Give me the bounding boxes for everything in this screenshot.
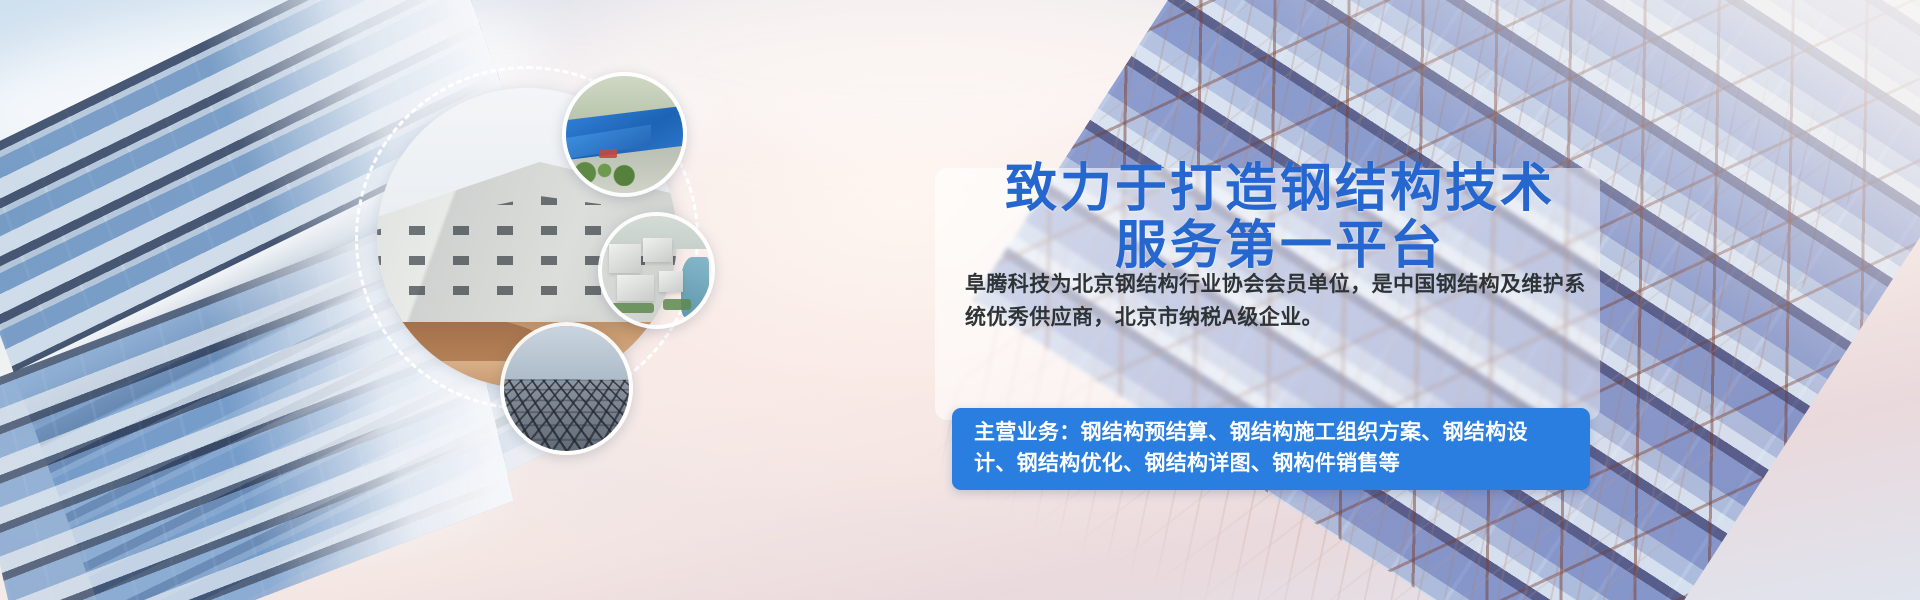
photo-landscaping bbox=[611, 303, 655, 313]
circle-photo-aerial-factory bbox=[562, 72, 687, 197]
photo-building-block bbox=[643, 238, 671, 262]
hero-banner: 致力于打造钢结构技术 服务第一平台 阜腾科技为北京钢结构行业协会会员单位，是中国… bbox=[0, 0, 1920, 600]
headline-line-2: 服务第一平台 bbox=[960, 217, 1600, 274]
services-badge: 主营业务：钢结构预结算、钢结构施工组织方案、钢结构设计、钢结构优化、钢结构详图、… bbox=[952, 408, 1590, 490]
photo-sky bbox=[504, 326, 629, 379]
headline: 致力于打造钢结构技术 服务第一平台 bbox=[960, 160, 1600, 274]
photo-red-court bbox=[599, 149, 618, 158]
photo-space-frame bbox=[500, 379, 633, 455]
photo-building-block bbox=[609, 244, 642, 272]
photo-landscaping bbox=[663, 299, 691, 310]
photo-landscaping bbox=[571, 160, 641, 186]
headline-line-1: 致力于打造钢结构技术 bbox=[1005, 158, 1555, 219]
circle-photo-steel-truss bbox=[500, 322, 633, 455]
circle-photo-industrial-park bbox=[598, 212, 715, 329]
circle-photo-cluster bbox=[355, 60, 755, 490]
photo-building-block bbox=[617, 275, 654, 301]
photo-building-block bbox=[659, 271, 683, 293]
description-paragraph: 阜腾科技为北京钢结构行业协会会员单位，是中国钢结构及维护系统优秀供应商，北京市纳… bbox=[965, 268, 1595, 334]
